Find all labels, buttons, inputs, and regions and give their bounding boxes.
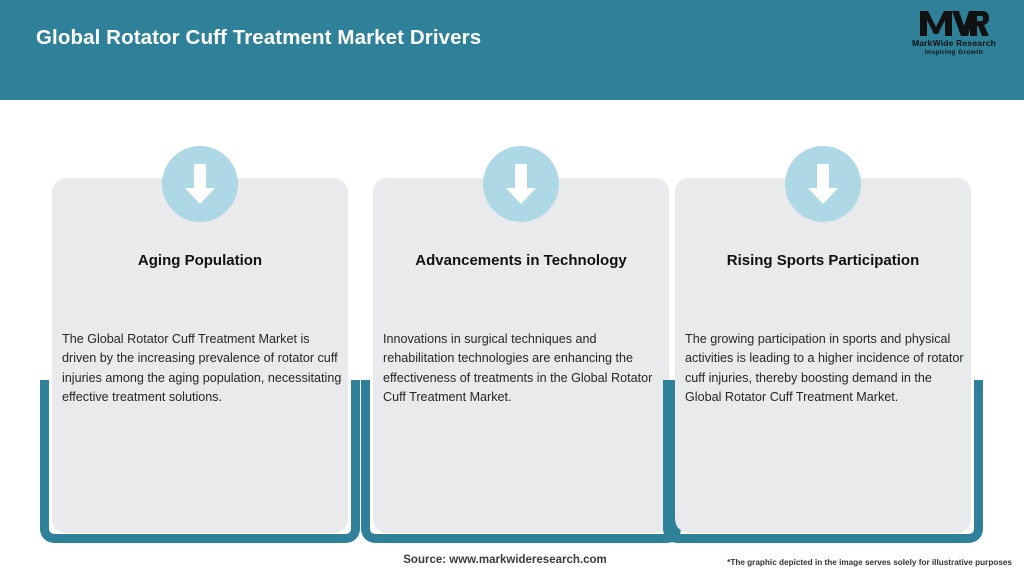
driver-card-2[interactable]: Advancements in Technology Innovations i…	[361, 100, 681, 543]
logo-tagline: Inspiring Growth	[902, 48, 1006, 57]
mwr-logo-icon	[902, 8, 1006, 38]
card-body-text: The growing participation in sports and …	[685, 330, 967, 407]
card-title: Aging Population	[50, 252, 350, 269]
brand-logo: MarkWide Research Inspiring Growth	[902, 8, 1006, 58]
logo-company-name: MarkWide Research	[902, 38, 1006, 48]
driver-card-3[interactable]: Rising Sports Participation The growing …	[663, 100, 983, 543]
page-title: Global Rotator Cuff Treatment Market Dri…	[36, 26, 481, 50]
arrow-down-icon	[483, 146, 559, 222]
card-body-text: The Global Rotator Cuff Treatment Market…	[62, 330, 344, 407]
disclaimer-label: *The graphic depicted in the image serve…	[727, 558, 1012, 567]
card-title: Advancements in Technology	[371, 252, 671, 269]
driver-card-1[interactable]: Aging Population The Global Rotator Cuff…	[40, 100, 360, 543]
card-body-text: Innovations in surgical techniques and r…	[383, 330, 665, 407]
driver-cards-container: Aging Population The Global Rotator Cuff…	[0, 100, 1024, 543]
card-title: Rising Sports Participation	[673, 252, 973, 269]
arrow-down-icon	[785, 146, 861, 222]
arrow-down-icon	[162, 146, 238, 222]
page-header: Global Rotator Cuff Treatment Market Dri…	[0, 0, 1024, 100]
